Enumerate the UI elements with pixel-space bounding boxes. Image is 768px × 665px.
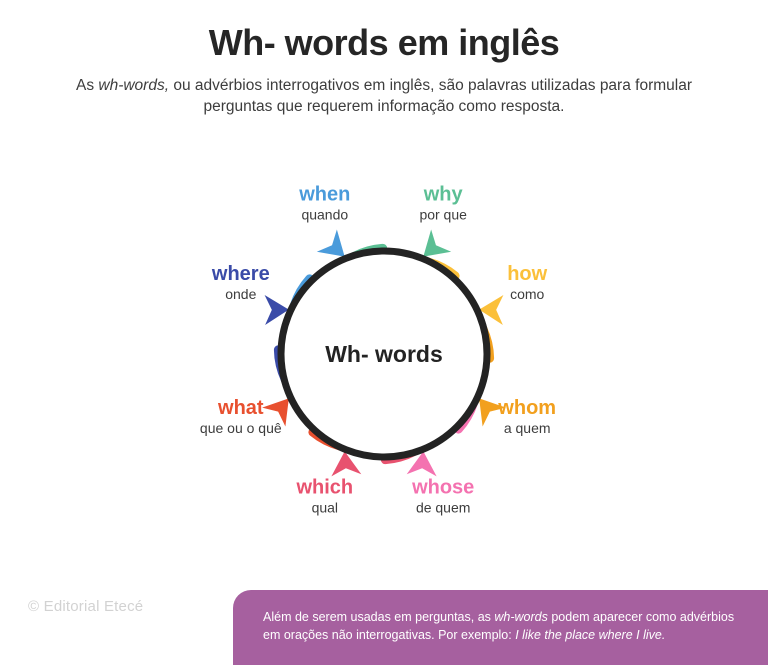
word-en-whose: whose bbox=[411, 477, 474, 499]
header: Wh- words em inglês As wh-words, ou advé… bbox=[0, 0, 768, 118]
word-en-whom: whom bbox=[497, 397, 556, 419]
word-en-where: where bbox=[211, 263, 270, 285]
word-pt-which: qual bbox=[312, 500, 338, 516]
word-en-what: what bbox=[217, 397, 264, 419]
word-pt-when: quando bbox=[301, 207, 348, 223]
wh-words-wheel-diagram: whatque ou o quêwhereondewhenquandowhypo… bbox=[0, 132, 768, 592]
word-pt-why: por que bbox=[419, 207, 467, 223]
center-label: Wh- words bbox=[325, 341, 443, 367]
note-banner: Além de serem usadas em perguntas, as wh… bbox=[233, 590, 768, 665]
subtitle: As wh-words, ou advérbios interrogativos… bbox=[64, 64, 704, 118]
word-en-when: when bbox=[298, 184, 350, 206]
word-pt-what: que ou o quê bbox=[200, 420, 282, 436]
word-pt-how: como bbox=[510, 286, 544, 302]
wheel-svg: whatque ou o quêwhereondewhenquandowhypo… bbox=[104, 132, 664, 587]
editorial-credit: © Editorial Etecé bbox=[28, 598, 143, 615]
word-pt-whose: de quem bbox=[416, 500, 470, 516]
word-pt-where: onde bbox=[225, 286, 256, 302]
word-pt-whom: a quem bbox=[504, 420, 551, 436]
word-en-how: how bbox=[507, 263, 547, 285]
word-en-which: which bbox=[295, 477, 353, 499]
page-title: Wh- words em inglês bbox=[0, 0, 768, 64]
word-en-why: why bbox=[423, 184, 464, 206]
note-text: Além de serem usadas em perguntas, as wh… bbox=[263, 608, 740, 644]
